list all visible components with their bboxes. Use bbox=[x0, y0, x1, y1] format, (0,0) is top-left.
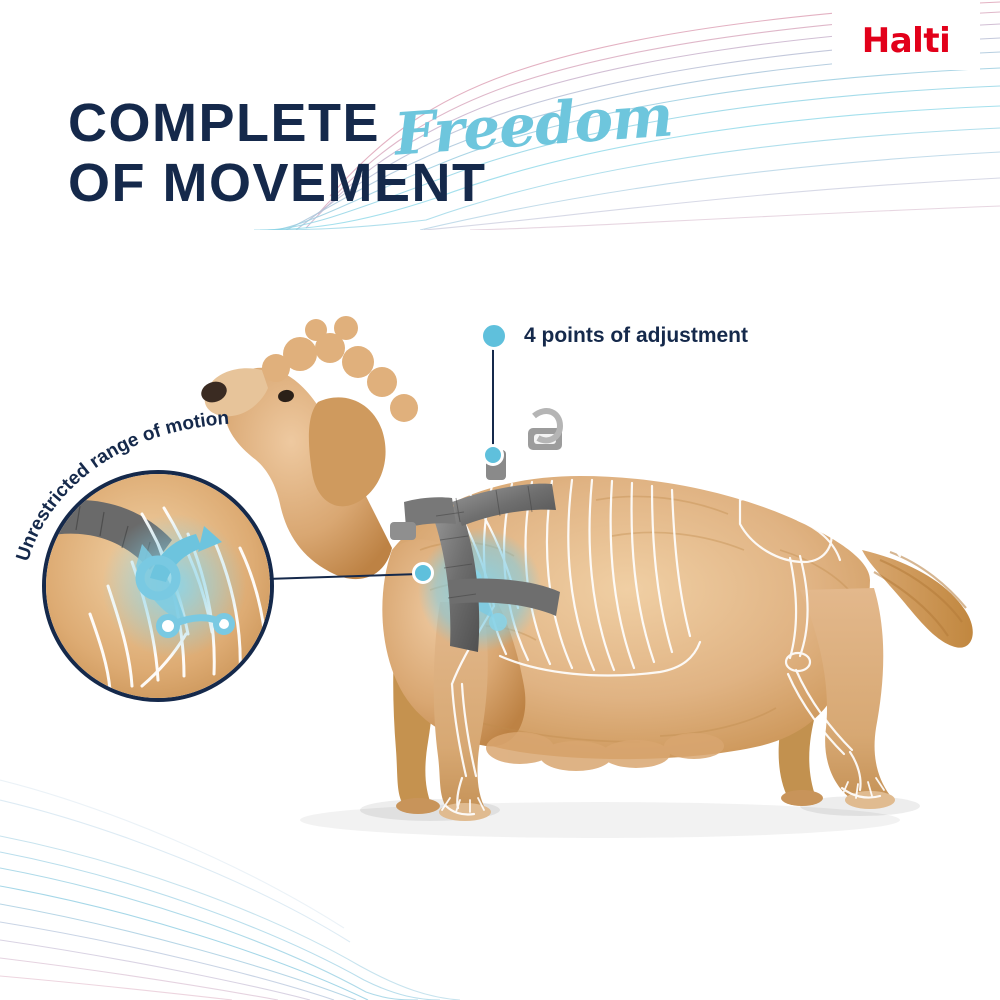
callout-range-of-motion-label: Unrestricted range of motion bbox=[8, 404, 368, 574]
headline-line-2: OF MOVEMENT bbox=[68, 152, 672, 214]
poster-canvas: Halti COMPLETEFreedom OF MOVEMENT bbox=[0, 0, 1000, 1000]
headline-script-word: Freedom bbox=[393, 86, 675, 163]
headline-line-1: COMPLETEFreedom bbox=[68, 92, 672, 152]
brand-logo: Halti bbox=[832, 0, 980, 70]
callout-adjustment-points-label: 4 points of adjustment bbox=[524, 324, 748, 348]
brand-logo-text: Halti bbox=[862, 24, 950, 70]
callout-marker-dot bbox=[480, 322, 508, 350]
callout-marker-dot-harness bbox=[482, 444, 504, 466]
headline-prefix: COMPLETE bbox=[68, 93, 380, 153]
callout-adjustment-points[interactable]: 4 points of adjustment bbox=[480, 322, 748, 350]
callout-marker-dot-shoulder bbox=[412, 562, 434, 584]
range-of-motion-text: Unrestricted range of motion bbox=[13, 408, 230, 564]
page-title: COMPLETEFreedom OF MOVEMENT bbox=[68, 92, 672, 214]
